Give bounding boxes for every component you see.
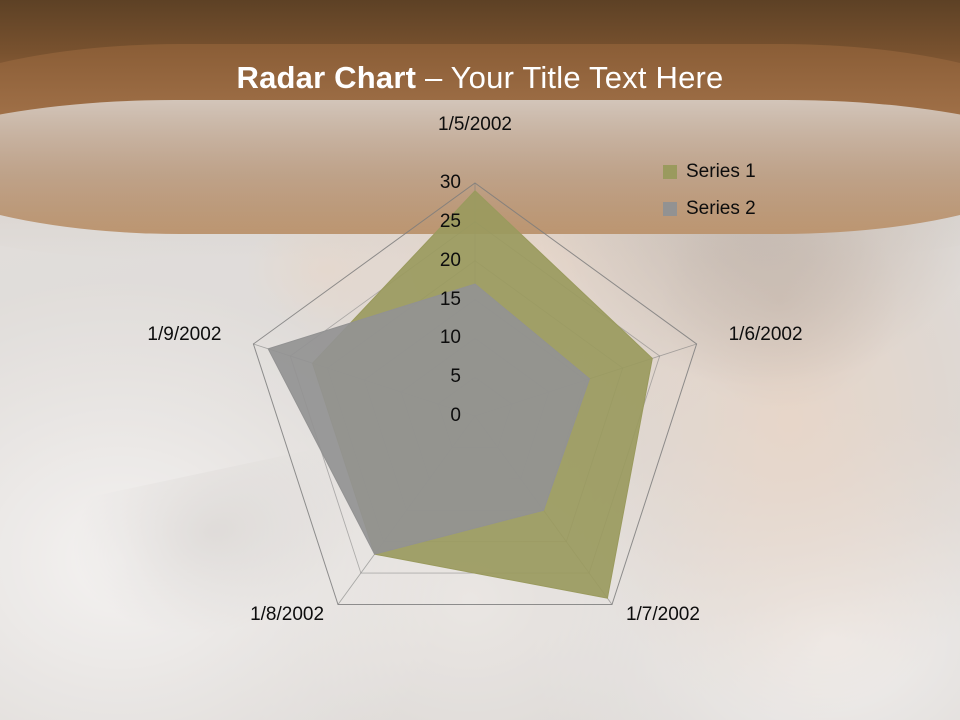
radial-tick-label-30: 30 bbox=[380, 172, 461, 194]
slide-title-strong: Radar Chart bbox=[237, 60, 417, 95]
radial-tick-label-25: 25 bbox=[380, 211, 461, 233]
radial-tick-label-10: 10 bbox=[380, 327, 461, 349]
category-label-1: 1/5/2002 bbox=[375, 114, 575, 136]
legend-label-1: Series 1 bbox=[686, 161, 756, 183]
radial-tick-label-20: 20 bbox=[380, 250, 461, 272]
slide: Radar Chart – Your Title Text Here 05101… bbox=[0, 0, 960, 720]
slide-title-light: Your Title Text Here bbox=[451, 60, 724, 95]
slide-title-separator: – bbox=[416, 60, 451, 95]
chart-legend: Series 1Series 2 bbox=[663, 158, 756, 232]
radial-tick-label-0: 0 bbox=[380, 405, 461, 427]
legend-item-1[interactable]: Series 1 bbox=[663, 158, 756, 185]
legend-swatch-icon-2 bbox=[663, 202, 677, 216]
category-label-4: 1/8/2002 bbox=[124, 604, 324, 626]
category-label-5: 1/9/2002 bbox=[21, 324, 221, 346]
slide-title: Radar Chart – Your Title Text Here bbox=[0, 60, 960, 96]
category-label-2: 1/6/2002 bbox=[729, 324, 929, 346]
radar-chart: 051015202530 1/5/20021/6/20021/7/20021/8… bbox=[0, 0, 960, 720]
radial-tick-label-5: 5 bbox=[380, 366, 461, 388]
radial-tick-label-15: 15 bbox=[380, 289, 461, 311]
category-label-3: 1/7/2002 bbox=[626, 604, 826, 626]
legend-swatch-icon-1 bbox=[663, 165, 677, 179]
legend-label-2: Series 2 bbox=[686, 198, 756, 220]
legend-item-2[interactable]: Series 2 bbox=[663, 195, 756, 222]
